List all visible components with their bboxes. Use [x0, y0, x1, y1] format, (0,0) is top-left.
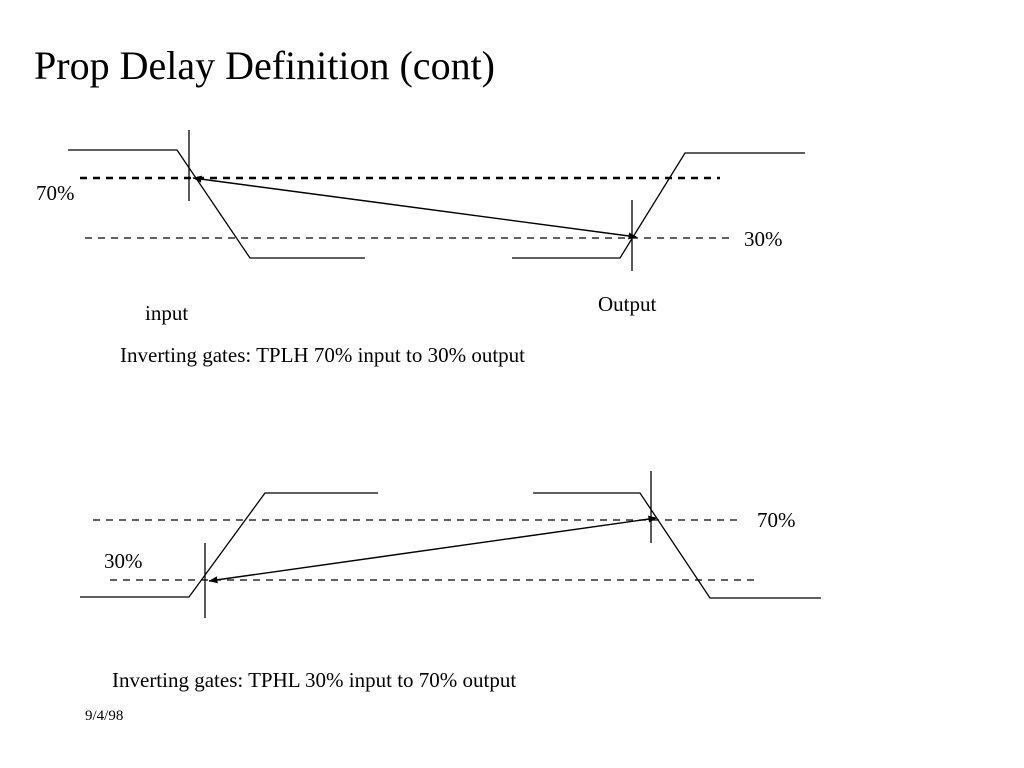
diagram-bottom-tphl [80, 471, 821, 618]
output-waveform-label: Output [598, 292, 656, 316]
caption-tphl: Inverting gates: TPHL 30% input to 70% o… [112, 668, 516, 692]
threshold-label-70-top-left: 70% [36, 181, 75, 205]
caption-tplh: Inverting gates: TPLH 70% input to 30% o… [120, 343, 525, 367]
input-waveform-bottom [80, 493, 378, 597]
delay-arrow-tphl [209, 519, 649, 581]
diagram-top-tplh [68, 130, 805, 271]
slide-canvas: Prop Delay Definition (cont) [0, 0, 1024, 768]
delay-arrow-tplh [193, 178, 629, 236]
threshold-label-30-bottom-left: 30% [104, 549, 143, 573]
threshold-label-30-top-right: 30% [744, 227, 783, 251]
waveform-diagrams [0, 0, 1024, 768]
input-waveform-top [68, 150, 365, 258]
input-waveform-label: input [145, 301, 188, 325]
slide-date: 9/4/98 [85, 707, 123, 725]
threshold-label-70-bottom-right: 70% [757, 508, 796, 532]
